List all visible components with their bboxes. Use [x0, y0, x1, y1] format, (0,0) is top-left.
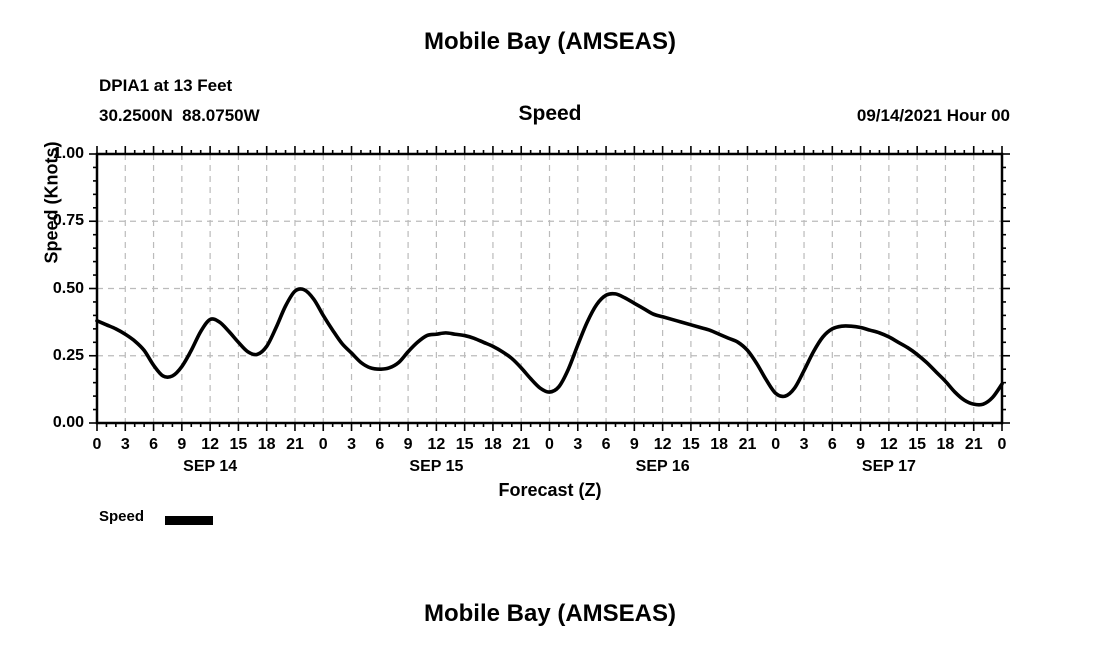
x-tick-label: 3 — [337, 436, 367, 454]
x-tick-label: 21 — [506, 436, 536, 454]
x-tick-label: 3 — [563, 436, 593, 454]
x-tick-label: 9 — [393, 436, 423, 454]
y-tick-label: 0.75 — [26, 212, 84, 230]
day-label: SEP 17 — [834, 458, 944, 476]
x-tick-label: 6 — [591, 436, 621, 454]
day-label: SEP 16 — [608, 458, 718, 476]
x-tick-label: 12 — [195, 436, 225, 454]
x-tick-label: 0 — [987, 436, 1017, 454]
y-tick-label: 0.50 — [26, 280, 84, 298]
x-tick-label: 18 — [930, 436, 960, 454]
x-tick-label: 21 — [959, 436, 989, 454]
x-tick-label: 6 — [365, 436, 395, 454]
y-tick-label: 1.00 — [26, 145, 84, 163]
page-title-bottom: Mobile Bay (AMSEAS) — [0, 600, 1100, 628]
x-tick-label: 6 — [817, 436, 847, 454]
x-tick-label: 15 — [902, 436, 932, 454]
x-tick-label: 15 — [676, 436, 706, 454]
x-tick-label: 18 — [252, 436, 282, 454]
x-tick-label: 9 — [167, 436, 197, 454]
day-label: SEP 15 — [381, 458, 491, 476]
x-tick-label: 3 — [789, 436, 819, 454]
legend-line-swatch — [165, 516, 213, 525]
x-tick-label: 12 — [648, 436, 678, 454]
x-tick-label: 21 — [732, 436, 762, 454]
y-tick-label: 0.00 — [26, 414, 84, 432]
x-tick-label: 3 — [110, 436, 140, 454]
x-tick-label: 12 — [874, 436, 904, 454]
x-tick-label: 0 — [761, 436, 791, 454]
x-tick-label: 6 — [139, 436, 169, 454]
x-tick-label: 15 — [223, 436, 253, 454]
x-tick-label: 18 — [704, 436, 734, 454]
gridlines — [97, 154, 1002, 423]
x-tick-label: 15 — [450, 436, 480, 454]
x-tick-label: 0 — [82, 436, 112, 454]
x-tick-label: 9 — [619, 436, 649, 454]
chart-page: Mobile Bay (AMSEAS) DPIA1 at 13 Feet 30.… — [0, 0, 1100, 650]
x-tick-label: 9 — [846, 436, 876, 454]
x-tick-label: 0 — [535, 436, 565, 454]
legend-label: Speed — [99, 508, 144, 525]
speed-line-chart — [0, 0, 1100, 650]
y-tick-label: 0.25 — [26, 347, 84, 365]
x-tick-label: 21 — [280, 436, 310, 454]
x-tick-label: 0 — [308, 436, 338, 454]
x-tick-label: 18 — [478, 436, 508, 454]
x-tick-label: 12 — [421, 436, 451, 454]
day-label: SEP 14 — [155, 458, 265, 476]
